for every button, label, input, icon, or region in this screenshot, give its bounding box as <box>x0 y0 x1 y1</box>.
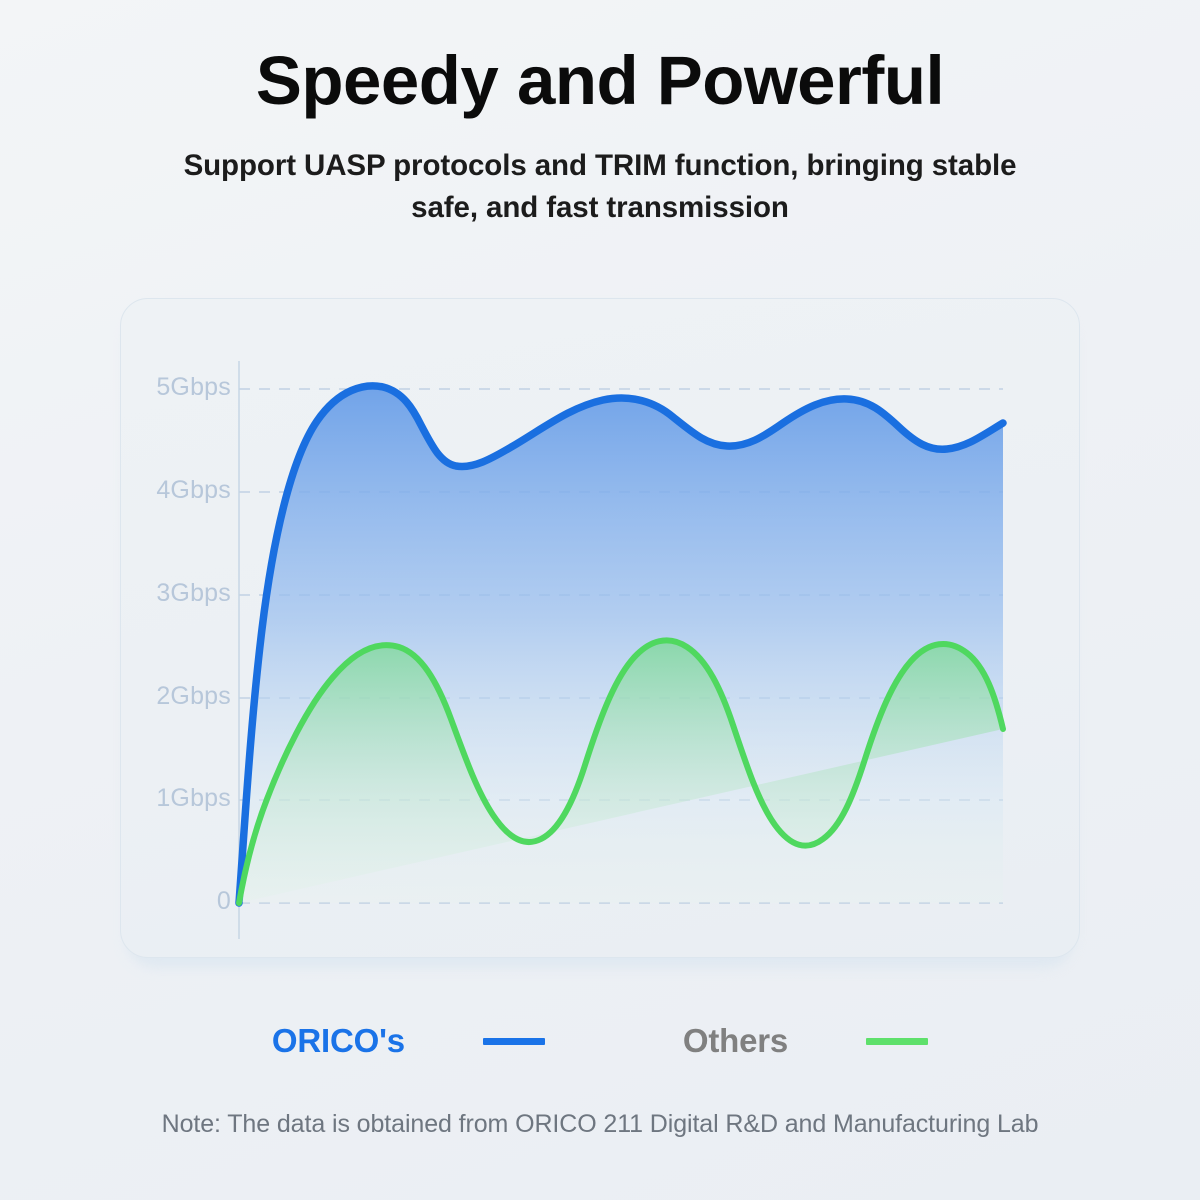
y-tick-5gbps: 5Gbps <box>156 373 231 402</box>
data-source-note: Note: The data is obtained from ORICO 21… <box>0 1110 1200 1139</box>
legend-label-orico: ORICO's <box>272 1022 405 1060</box>
others-line-swatch <box>866 1038 928 1045</box>
orico-line-swatch <box>483 1038 545 1045</box>
y-tick-1gbps: 1Gbps <box>156 784 231 813</box>
chart-card: 5Gbps 4Gbps 3Gbps 2Gbps 1Gbps 0 <box>120 298 1080 958</box>
legend-label-others: Others <box>683 1022 788 1060</box>
chart-legend: ORICO's Others <box>0 1022 1200 1060</box>
chart-card-wrapper: 5Gbps 4Gbps 3Gbps 2Gbps 1Gbps 0 <box>120 298 1080 970</box>
page-title: Speedy and Powerful <box>0 46 1200 115</box>
y-axis-labels: 5Gbps 4Gbps 3Gbps 2Gbps 1Gbps 0 <box>131 299 231 958</box>
y-tick-2gbps: 2Gbps <box>156 682 231 711</box>
y-tick-3gbps: 3Gbps <box>156 579 231 608</box>
y-tick-zero: 0 <box>217 887 231 916</box>
page-subtitle: Support UASP protocols and TRIM function… <box>160 145 1040 229</box>
performance-line-chart <box>121 299 1080 958</box>
y-tick-4gbps: 4Gbps <box>156 476 231 505</box>
legend-item-others: Others <box>683 1022 928 1060</box>
legend-item-orico: ORICO's <box>272 1022 545 1060</box>
header-block: Speedy and Powerful Support UASP protoco… <box>0 0 1200 229</box>
